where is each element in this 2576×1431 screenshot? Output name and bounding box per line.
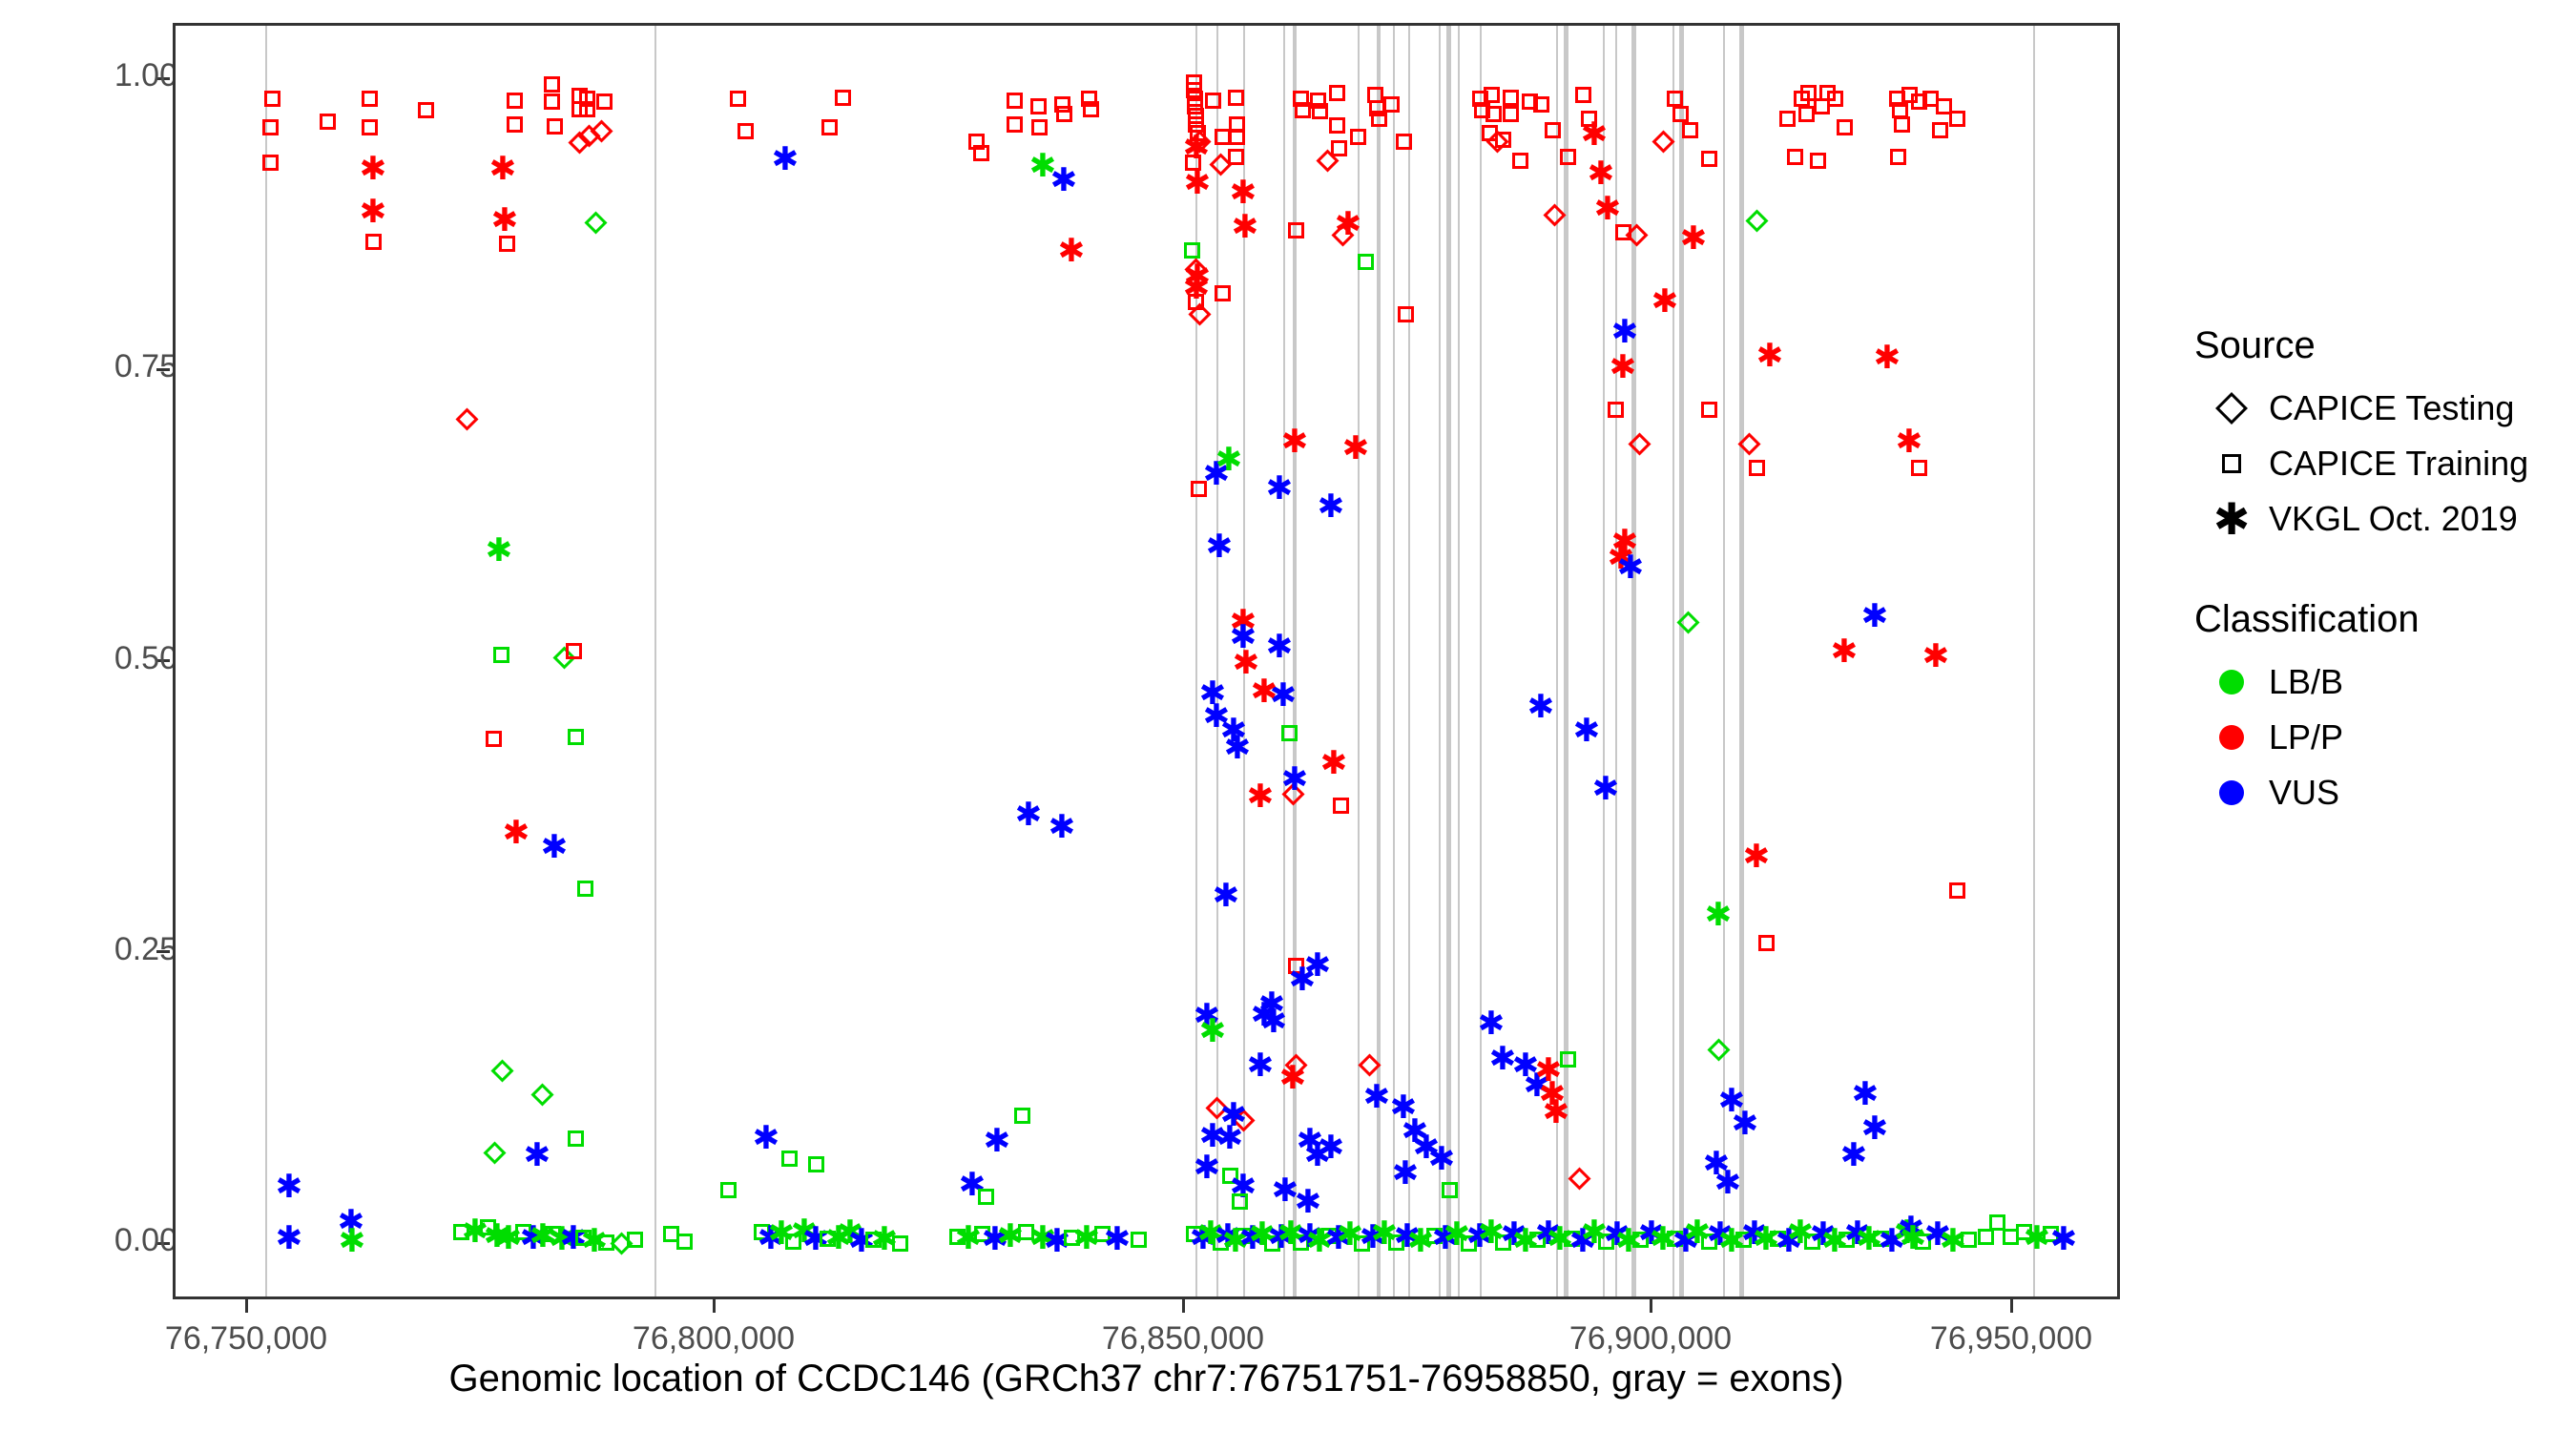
data-point [1331, 140, 1347, 156]
data-point [568, 729, 584, 745]
data-point: ✱ [273, 1171, 305, 1203]
data-point: ✱ [1181, 167, 1214, 199]
x-axis-title: Genomic location of CCDC146 (GRCh37 chr7… [173, 1355, 2120, 1402]
data-point: ✱ [357, 196, 389, 228]
data-point: ✱ [1263, 631, 1296, 663]
x-tick [1650, 1299, 1652, 1313]
exon-line [1631, 26, 1636, 1296]
data-point [486, 731, 502, 747]
data-point: ✱ [1920, 640, 1952, 673]
data-point: ✱ [1828, 635, 1860, 668]
data-point [1329, 85, 1345, 101]
data-point: ✱ [1712, 1167, 1744, 1199]
data-point [1652, 130, 1674, 153]
y-tick-label: 0.50 [0, 640, 177, 677]
data-point: ✱ [1361, 1081, 1393, 1113]
data-point [544, 76, 560, 93]
data-point: ✱ [1315, 490, 1347, 523]
data-point [1229, 129, 1245, 145]
data-point [627, 1232, 643, 1248]
x-tick-label: 76,950,000 [1868, 1320, 2154, 1358]
data-point: ✱ [1729, 1108, 1761, 1140]
data-point [1333, 798, 1349, 814]
data-point [1758, 935, 1775, 951]
legend-label-vus: VUS [2269, 773, 2339, 813]
data-point: ✱ [1614, 551, 1647, 584]
data-point [507, 93, 523, 109]
x-tick-label: 76,800,000 [571, 1320, 857, 1358]
x-tick-label: 76,900,000 [1507, 1320, 1794, 1358]
data-point: ✱ [357, 153, 389, 185]
data-point: ✱ [1229, 211, 1261, 243]
data-point [1810, 153, 1826, 169]
data-point [1083, 101, 1099, 117]
y-tick-label: 1.00 [0, 57, 177, 94]
data-point: ✱ [488, 204, 521, 237]
data-point: ✱ [1213, 444, 1245, 476]
data-point [1371, 111, 1387, 127]
data-point: ✱ [1649, 285, 1681, 318]
legend-item-capice-training[interactable]: CAPICE Training [2194, 436, 2557, 491]
legend-title-source: Source [2194, 324, 2557, 367]
data-point [1056, 106, 1072, 122]
data-point: ✱ [487, 153, 519, 185]
asterisk-icon: ✱ [2194, 502, 2269, 537]
data-point: ✱ [1589, 773, 1622, 805]
data-point [1396, 134, 1412, 150]
data-point: ✱ [1540, 1096, 1572, 1129]
data-point: ✱ [1196, 1015, 1229, 1047]
data-point [1787, 149, 1803, 165]
data-point: ✱ [273, 1222, 305, 1255]
data-point: ✱ [1048, 164, 1080, 197]
data-point: ✱ [1525, 691, 1557, 723]
data-point [821, 119, 838, 135]
data-point: ✱ [981, 1125, 1013, 1157]
data-point: ✱ [538, 831, 571, 863]
data-point: ✱ [1055, 235, 1088, 267]
legend: Source CAPICE Testing CAPICE Training ✱ … [2194, 324, 2557, 820]
data-point [1667, 91, 1683, 107]
data-point [1608, 402, 1624, 418]
exon-line [1480, 26, 1482, 1296]
plot-area: ✱✱✱✱✱✱✱✱✱✱✱✱✱✱✱✱✱✱✱✱✱✱✱✱✱✱✱✱✱✱✱✱✱✱✱✱✱✱✱✱… [176, 26, 2117, 1296]
data-point [577, 881, 593, 897]
data-point [320, 114, 336, 130]
data-point [507, 116, 523, 133]
data-point [418, 102, 434, 118]
data-point [1184, 242, 1200, 259]
exon-line [1672, 26, 1674, 1296]
data-point: ✱ [1754, 340, 1786, 372]
legend-label-vkgl: VKGL Oct. 2019 [2269, 499, 2518, 539]
data-point [530, 1083, 553, 1106]
data-point [1131, 1232, 1147, 1248]
data-point [566, 643, 582, 659]
data-point: ✱ [1677, 222, 1710, 255]
data-point [1701, 151, 1717, 167]
data-point [1749, 460, 1765, 476]
data-point: ✱ [1871, 342, 1903, 374]
data-point [1232, 1193, 1248, 1210]
exon-line [2033, 26, 2035, 1296]
data-point: ✱ [1607, 351, 1639, 384]
x-tick-label: 76,850,000 [1040, 1320, 1326, 1358]
data-point: ✱ [1278, 763, 1311, 796]
data-point [568, 1130, 584, 1147]
data-point [737, 123, 754, 139]
data-point [1543, 203, 1566, 226]
exon-line [1446, 26, 1451, 1296]
data-point: ✱ [1389, 1157, 1422, 1190]
data-point [1575, 87, 1591, 103]
data-point [1911, 460, 1927, 476]
data-point [1007, 116, 1023, 133]
data-point [1798, 106, 1815, 122]
y-tick-label: 0.75 [0, 348, 177, 385]
data-point: ✱ [1257, 1006, 1290, 1038]
y-tick-label: 0.00 [0, 1222, 177, 1259]
dot-icon-lpp [2194, 725, 2269, 750]
data-point [720, 1182, 737, 1198]
data-point: ✱ [1012, 798, 1045, 831]
data-point: ✱ [1425, 1143, 1458, 1175]
data-point [1215, 129, 1231, 145]
data-point: ✱ [1859, 600, 1891, 633]
data-point: ✱ [1278, 425, 1311, 458]
data-point [973, 145, 989, 161]
data-point [1312, 103, 1328, 119]
data-point [455, 407, 478, 430]
data-point: ✱ [1893, 425, 1925, 458]
data-point: ✱ [483, 534, 515, 567]
data-point [1215, 285, 1231, 301]
data-point [1837, 119, 1853, 135]
data-point: ✱ [1191, 1151, 1223, 1184]
data-point [362, 91, 378, 107]
data-point: ✱ [1585, 157, 1617, 190]
data-point [1568, 1167, 1590, 1190]
data-point [835, 90, 851, 106]
data-point [1288, 222, 1304, 238]
legend-item-lpp[interactable]: LP/P [2194, 710, 2557, 765]
data-point [1485, 106, 1502, 122]
data-point [1533, 96, 1549, 113]
data-point [1495, 132, 1511, 148]
data-point [579, 101, 595, 117]
data-point [1329, 117, 1345, 134]
data-point: ✱ [1292, 1186, 1324, 1218]
data-point [264, 91, 280, 107]
data-point [1672, 106, 1689, 122]
data-point [1560, 1051, 1576, 1068]
data-point [892, 1235, 908, 1252]
data-point: ✱ [500, 817, 532, 849]
data-point [1191, 481, 1207, 497]
x-tick [245, 1299, 248, 1313]
legend-spacer [2194, 547, 2557, 598]
data-point [483, 1141, 506, 1164]
data-point: ✱ [336, 1225, 368, 1257]
x-tick-label: 76,750,000 [103, 1320, 389, 1358]
data-point: ✱ [521, 1139, 553, 1172]
data-point [1503, 90, 1519, 106]
data-point [1890, 149, 1906, 165]
data-point [781, 1151, 798, 1167]
legend-item-vus[interactable]: VUS [2194, 765, 2557, 820]
data-point [1779, 111, 1796, 127]
data-point [1682, 122, 1698, 138]
legend-label-capice-training: CAPICE Training [2269, 444, 2528, 484]
data-point: ✱ [1244, 1049, 1277, 1082]
data-point [1707, 1039, 1730, 1062]
square-icon [2194, 454, 2269, 473]
data-point [1398, 306, 1414, 322]
data-point: ✱ [2047, 1223, 2080, 1255]
data-point [1484, 87, 1500, 103]
data-point: ✱ [1609, 316, 1641, 348]
data-point: ✱ [1203, 530, 1236, 563]
data-point [1030, 98, 1047, 114]
data-point: ✱ [1318, 747, 1350, 779]
data-point [1932, 122, 1948, 138]
data-point: ✱ [1578, 118, 1610, 151]
data-point [1745, 209, 1768, 232]
data-point [1512, 153, 1528, 169]
legend-item-vkgl[interactable]: ✱ VKGL Oct. 2019 [2194, 491, 2557, 547]
data-point: ✱ [1702, 899, 1735, 931]
data-point [1894, 116, 1910, 133]
y-tick-label: 0.25 [0, 931, 177, 968]
dot-icon-vus [2194, 780, 2269, 805]
data-point [1358, 254, 1374, 270]
diamond-icon [2194, 397, 2269, 420]
data-point: ✱ [1046, 811, 1078, 843]
data-point: ✱ [1838, 1139, 1870, 1172]
data-point [808, 1156, 824, 1172]
legend-item-capice-testing[interactable]: CAPICE Testing [2194, 381, 2557, 436]
legend-label-lbb: LB/B [2269, 662, 2343, 702]
data-point [584, 212, 607, 235]
data-point: ✱ [1570, 715, 1603, 747]
exon-line [265, 26, 267, 1296]
data-point [1281, 725, 1298, 741]
data-point [1205, 93, 1221, 109]
data-point [1295, 102, 1311, 118]
data-point: ✱ [1897, 1222, 1929, 1255]
data-point [1560, 149, 1576, 165]
data-point: ✱ [1315, 1131, 1347, 1164]
data-point [547, 118, 563, 135]
data-point: ✱ [750, 1122, 782, 1154]
data-point: ✱ [1244, 780, 1277, 813]
data-point [730, 91, 746, 107]
exon-line [654, 26, 656, 1296]
exon-line [1679, 26, 1684, 1296]
data-point [1228, 90, 1244, 106]
data-point [1503, 106, 1519, 122]
data-point: ✱ [1248, 675, 1280, 708]
data-point [362, 119, 378, 135]
data-point [1827, 91, 1843, 107]
chart-root: CAPICE score (pathogenicity estimate) Ge… [0, 0, 2576, 1431]
data-point: ✱ [1277, 1062, 1309, 1094]
data-point [1545, 122, 1561, 138]
data-point [676, 1234, 693, 1250]
data-point [1961, 1232, 1977, 1248]
x-tick [1182, 1299, 1185, 1313]
data-point [493, 647, 509, 663]
legend-label-capice-testing: CAPICE Testing [2269, 388, 2514, 428]
data-point: ✱ [1340, 432, 1372, 465]
data-point [262, 155, 279, 171]
data-point: ✱ [1301, 949, 1334, 982]
data-point [1014, 1108, 1030, 1124]
exon-line [1458, 26, 1460, 1296]
x-tick [713, 1299, 716, 1313]
exon-line [1439, 26, 1441, 1296]
data-point: ✱ [769, 143, 801, 176]
dot-icon-lbb [2194, 670, 2269, 695]
data-point [1383, 96, 1400, 113]
plot-panel: ✱✱✱✱✱✱✱✱✱✱✱✱✱✱✱✱✱✱✱✱✱✱✱✱✱✱✱✱✱✱✱✱✱✱✱✱✱✱✱✱… [173, 23, 2120, 1299]
data-point: ✱ [1263, 472, 1296, 505]
data-point [1031, 119, 1048, 135]
data-point [1978, 1229, 1994, 1245]
data-point [1350, 129, 1366, 145]
exon-line [1195, 26, 1197, 1296]
data-point [262, 119, 279, 135]
legend-item-lbb[interactable]: LB/B [2194, 654, 2557, 710]
data-point: ✱ [1591, 193, 1624, 225]
data-point [978, 1189, 994, 1205]
data-point: ✱ [1849, 1078, 1881, 1110]
data-point [1701, 402, 1717, 418]
data-point [1949, 882, 1965, 899]
data-point [1949, 111, 1965, 127]
data-point: ✱ [1101, 1223, 1133, 1255]
data-point [1007, 93, 1023, 109]
data-point [499, 236, 515, 252]
x-tick [2010, 1299, 2013, 1313]
legend-title-classification: Classification [2194, 598, 2557, 641]
data-point [490, 1060, 513, 1083]
data-point: ✱ [1475, 1007, 1507, 1040]
data-point: ✱ [1221, 732, 1254, 764]
data-point [365, 234, 382, 250]
data-point [544, 93, 560, 110]
data-point: ✱ [1227, 176, 1259, 209]
data-point: ✱ [1740, 840, 1773, 873]
data-point [1442, 1182, 1458, 1198]
data-point: ✱ [1210, 880, 1242, 912]
data-point [596, 93, 613, 110]
legend-label-lpp: LP/P [2269, 717, 2343, 757]
